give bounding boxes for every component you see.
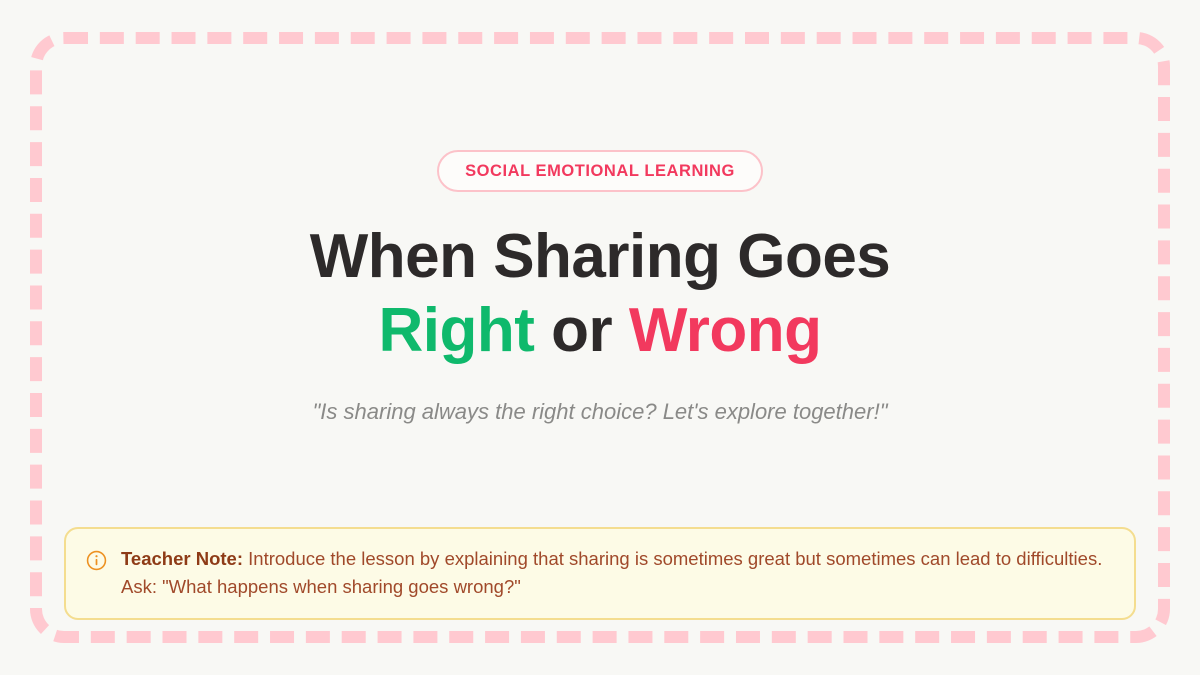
title-word-or: or — [551, 296, 629, 365]
slide-subtitle: "Is sharing always the right choice? Let… — [312, 399, 887, 425]
title-line-primary: When Sharing Goes — [310, 220, 891, 294]
title-line-secondary: Right or Wrong — [310, 294, 891, 368]
teacher-note-box: Teacher Note: Introduce the lesson by ex… — [64, 527, 1136, 620]
page-title: When Sharing Goes Right or Wrong — [310, 220, 891, 369]
teacher-note-body: Introduce the lesson by explaining that … — [121, 548, 1102, 597]
title-word-wrong: Wrong — [629, 296, 822, 365]
lesson-category-badge: SOCIAL EMOTIONAL LEARNING — [437, 150, 763, 192]
info-circle-icon — [86, 550, 107, 571]
title-word-right: Right — [378, 296, 551, 365]
teacher-note-label: Teacher Note: — [121, 548, 248, 569]
teacher-note-text: Teacher Note: Introduce the lesson by ex… — [121, 545, 1112, 601]
